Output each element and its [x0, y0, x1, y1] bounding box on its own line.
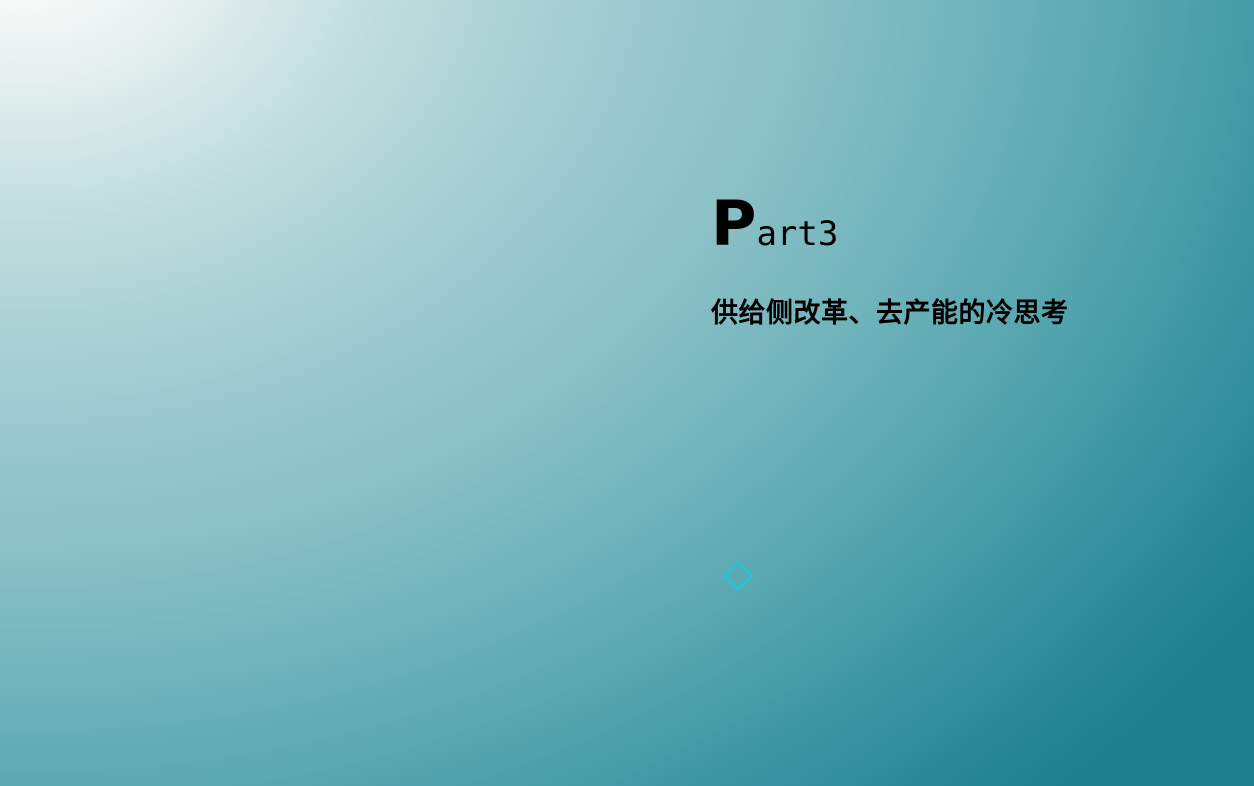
part-title-rest: art3 — [756, 217, 838, 251]
slide-canvas: P art3 供给侧改革、去产能的冷思考 — [0, 0, 1254, 786]
page-title: P art3 — [711, 193, 838, 255]
diamond-icon — [720, 558, 756, 594]
section-subtitle: 供给侧改革、去产能的冷思考 — [711, 298, 1069, 330]
part-title-lead-letter: P — [711, 193, 755, 255]
diamond-outline-shape — [720, 558, 756, 594]
